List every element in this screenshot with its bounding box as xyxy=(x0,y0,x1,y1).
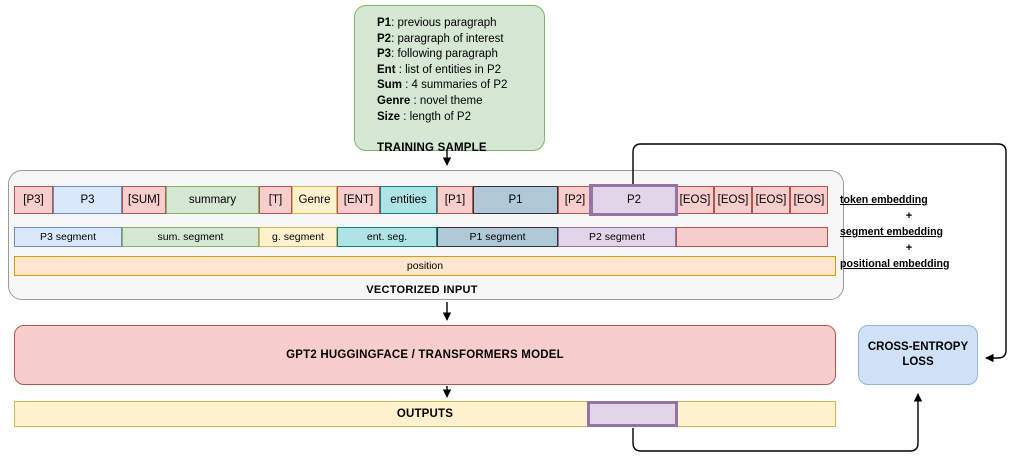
token-cell-sum-tag: [SUM] xyxy=(122,186,166,214)
cross-entropy-loss-box: CROSS-ENTROPY LOSS xyxy=(858,325,978,385)
line-text: novel theme xyxy=(420,95,483,107)
token-cell-eos-1: [EOS] xyxy=(676,186,714,214)
token-cell-summary: summary xyxy=(166,186,259,214)
training-sample-line: Sum : 4 summaries of P2 xyxy=(377,78,544,94)
segment-embedding-label: segment embedding xyxy=(840,226,943,238)
segment-cell-p3: P3 segment xyxy=(14,227,122,247)
segment-cell-pad xyxy=(676,227,828,247)
line-text: previous paragraph xyxy=(397,17,496,29)
training-sample-line: Size : length of P2 xyxy=(377,110,544,126)
token-cell-p1: P1 xyxy=(473,186,558,214)
training-sample-line: P1: previous paragraph xyxy=(377,16,544,32)
segment-cell-ent: ent. seg. xyxy=(337,227,437,247)
segment-cell-p1: P1 segment xyxy=(437,227,558,247)
training-sample-line: Ent : list of entities in P2 xyxy=(377,63,544,79)
vectorized-input-label: VECTORIZED INPUT xyxy=(8,283,836,297)
line-key: Size xyxy=(377,111,400,123)
line-sep: : xyxy=(410,95,420,107)
token-embedding-label: token embedding xyxy=(840,194,928,206)
token-cell-p3-tag: [P3] xyxy=(14,186,53,214)
embedding-plus-1: + xyxy=(840,210,978,222)
training-sample-box: P1: previous paragraph P2: paragraph of … xyxy=(354,5,545,151)
embedding-plus-2: + xyxy=(840,242,978,254)
token-cell-p2-tag: [P2] xyxy=(558,186,592,214)
token-cell-p1-tag: [P1] xyxy=(437,186,473,214)
outputs-highlight-box xyxy=(587,401,678,427)
segment-cell-p2: P2 segment xyxy=(558,227,676,247)
line-sep: : xyxy=(402,79,412,91)
token-cell-entities: entities xyxy=(380,186,437,214)
token-cell-t-tag: [T] xyxy=(259,186,292,214)
line-text: 4 summaries of P2 xyxy=(412,79,508,91)
loss-label-line2: LOSS xyxy=(868,355,968,370)
line-text: following paragraph xyxy=(397,48,497,60)
training-sample-line: P2: paragraph of interest xyxy=(377,32,544,48)
line-key: Sum xyxy=(377,79,402,91)
segment-cell-genre: g. segment xyxy=(259,227,337,247)
line-key: P1 xyxy=(377,17,391,29)
training-sample-title: TRAINING SAMPLE xyxy=(377,141,544,157)
training-sample-line: Genre : novel theme xyxy=(377,94,544,110)
loss-label-line1: CROSS-ENTROPY xyxy=(868,340,968,355)
token-cell-p3: P3 xyxy=(53,186,122,214)
line-key: P3 xyxy=(377,48,391,60)
outputs-bar: OUTPUTS xyxy=(14,401,836,427)
line-sep: : xyxy=(396,64,406,76)
line-key: Ent xyxy=(377,64,396,76)
line-text: paragraph of interest xyxy=(397,33,503,45)
gpt2-model-box: GPT2 HUGGINGFACE / TRANSFORMERS MODEL xyxy=(14,325,836,385)
line-sep: : xyxy=(400,111,410,123)
token-cell-eos-2: [EOS] xyxy=(714,186,752,214)
training-sample-line: P3: following paragraph xyxy=(377,47,544,63)
token-cell-genre: Genre xyxy=(292,186,337,214)
position-bar: position xyxy=(14,256,836,276)
training-sample-lines: P1: previous paragraph P2: paragraph of … xyxy=(377,16,544,125)
segment-cell-sum: sum. segment xyxy=(122,227,259,247)
positional-embedding-label: positional embedding xyxy=(840,258,949,270)
token-cell-ent-tag: [ENT] xyxy=(337,186,380,214)
token-cell-eos-4: [EOS] xyxy=(790,186,828,214)
line-key: P2 xyxy=(377,33,391,45)
line-text: list of entities in P2 xyxy=(405,64,501,76)
line-key: Genre xyxy=(377,95,410,107)
p2-token-highlight-box xyxy=(589,184,678,216)
line-text: length of P2 xyxy=(410,111,471,123)
token-cell-eos-3: [EOS] xyxy=(752,186,790,214)
